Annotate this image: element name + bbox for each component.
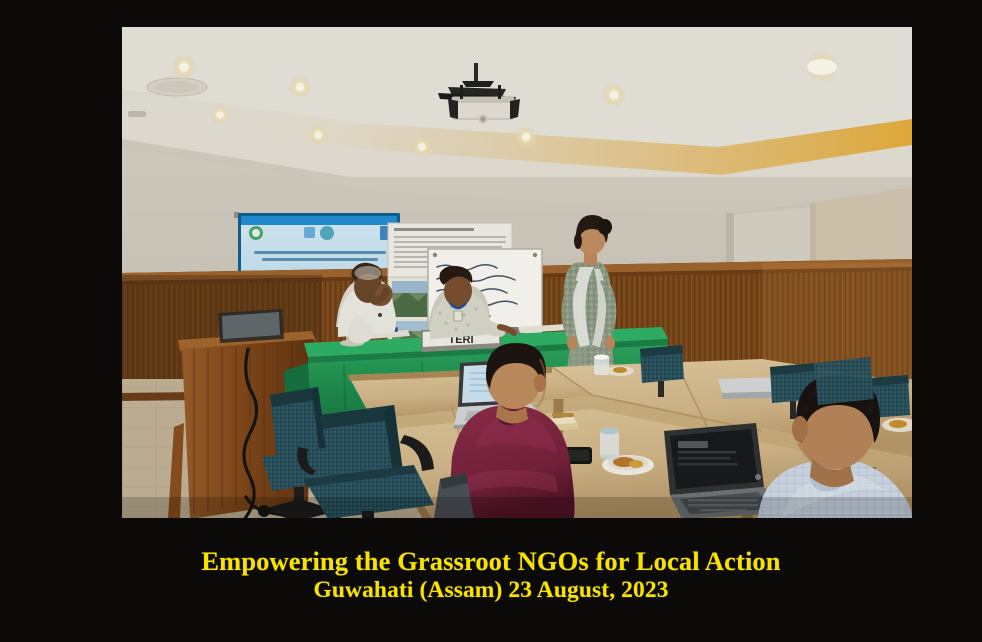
photo-canvas: TERI [122,27,912,518]
event-photograph: TERI [122,27,912,518]
slide-caption: Empowering the Grassroot NGOs for Local … [0,546,982,604]
presentation-slide: TERI [0,0,982,642]
caption-subtitle: Guwahati (Assam) 23 August, 2023 [0,576,982,604]
caption-title: Empowering the Grassroot NGOs for Local … [0,546,982,576]
